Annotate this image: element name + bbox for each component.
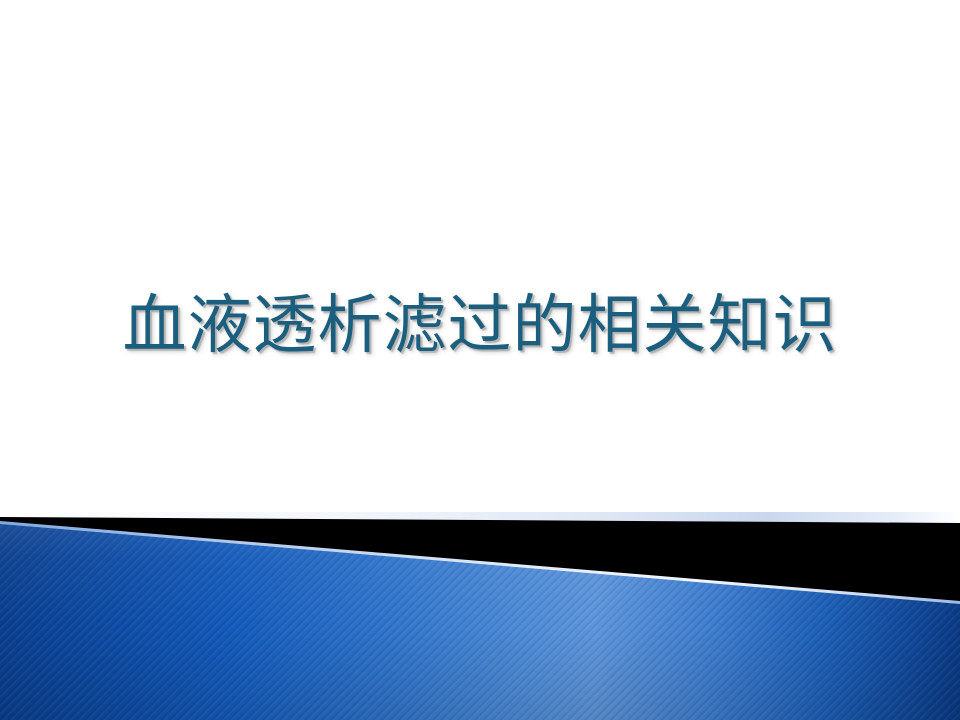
bottom-decorative-banner: [0, 512, 960, 720]
title-placeholder: 血液透析滤过的相关知识: [0, 272, 960, 382]
slide-canvas: 血液透析滤过的相关知识: [0, 0, 960, 720]
page-title: 血液透析滤过的相关知识: [123, 293, 838, 360]
